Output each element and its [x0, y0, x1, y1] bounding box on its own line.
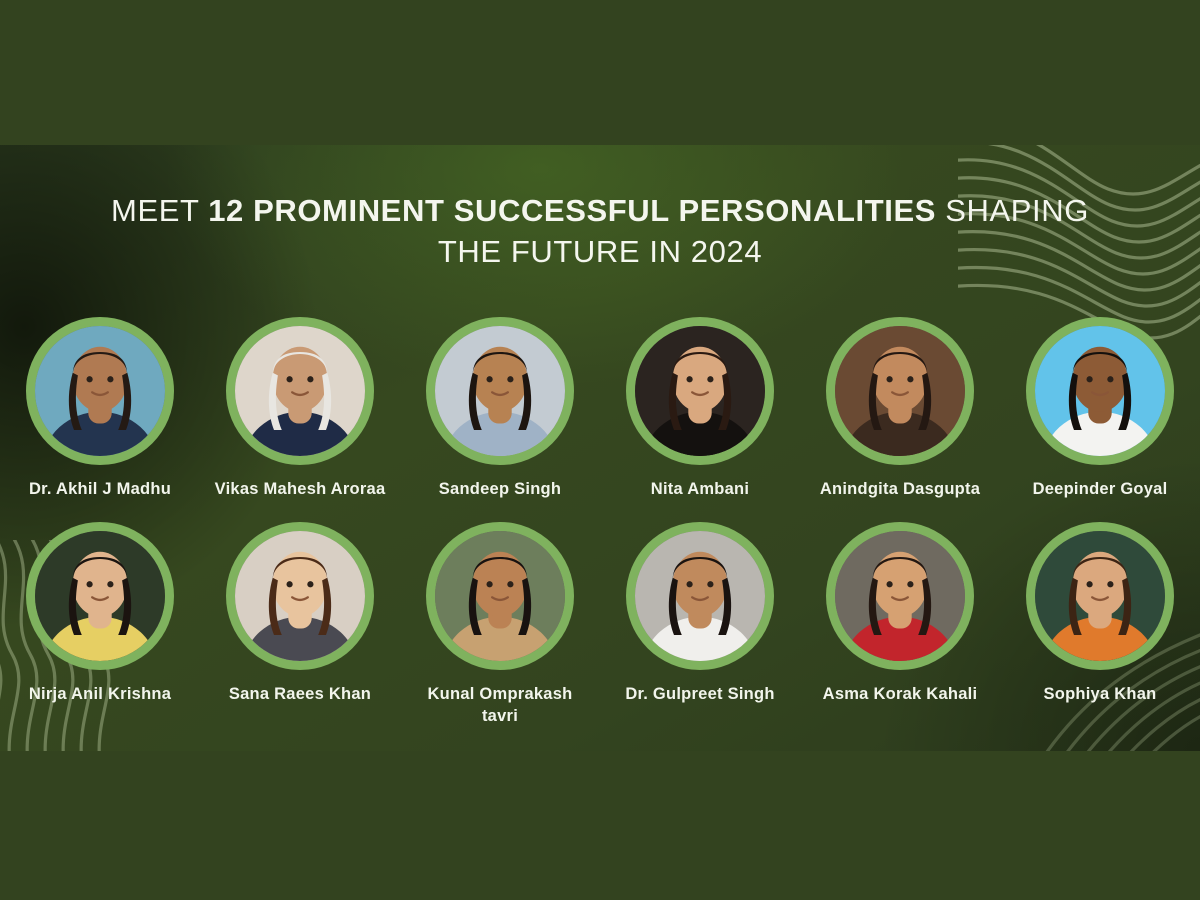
personality-name: Dr. Gulpreet Singh	[625, 684, 774, 705]
personality-card: Anindgita Dasgupta	[800, 317, 1000, 500]
personality-card: Asma Korak Kahali	[800, 522, 1000, 727]
headline-suffix: SHAPING	[936, 193, 1089, 228]
personality-card: Vikas Mahesh Aroraa	[200, 317, 400, 500]
personality-name: Nita Ambani	[651, 479, 749, 500]
avatar-ring	[1026, 317, 1174, 465]
avatar	[35, 326, 165, 456]
personality-name: Vikas Mahesh Aroraa	[215, 479, 386, 500]
avatar	[435, 531, 565, 661]
personality-card: Kunal Omprakash tavri	[400, 522, 600, 727]
headline-prefix: MEET	[111, 193, 208, 228]
avatar	[235, 531, 365, 661]
personalities-grid: Dr. Akhil J MadhuVikas Mahesh AroraaSand…	[0, 317, 1200, 727]
personality-card: Sophiya Khan	[1000, 522, 1200, 727]
avatar-ring	[826, 317, 974, 465]
personality-card: Dr. Akhil J Madhu	[0, 317, 200, 500]
banner-graphic: MEET 12 PROMINENT SUCCESSFUL PERSONALITI…	[0, 0, 1200, 900]
personality-name: Asma Korak Kahali	[823, 684, 978, 705]
avatar	[1035, 326, 1165, 456]
personality-card: Nirja Anil Krishna	[0, 522, 200, 727]
avatar-ring	[626, 522, 774, 670]
personality-name: Sana Raees Khan	[229, 684, 371, 705]
headline-line-1: MEET 12 PROMINENT SUCCESSFUL PERSONALITI…	[0, 191, 1200, 232]
avatar-ring	[26, 317, 174, 465]
avatar	[235, 326, 365, 456]
avatar	[835, 326, 965, 456]
avatar	[635, 326, 765, 456]
avatar-ring	[26, 522, 174, 670]
personality-name: Deepinder Goyal	[1033, 479, 1168, 500]
avatar-ring	[1026, 522, 1174, 670]
headline-line-2: THE FUTURE IN 2024	[0, 232, 1200, 273]
personality-card: Sandeep Singh	[400, 317, 600, 500]
avatar-ring	[426, 317, 574, 465]
personality-name: Dr. Akhil J Madhu	[29, 479, 171, 500]
avatar	[635, 531, 765, 661]
personality-card: Nita Ambani	[600, 317, 800, 500]
personality-name: Nirja Anil Krishna	[29, 684, 171, 705]
avatar-ring	[226, 522, 374, 670]
personality-name: Anindgita Dasgupta	[820, 479, 980, 500]
headline-emphasis: 12 PROMINENT SUCCESSFUL PERSONALITIES	[208, 193, 936, 228]
avatar-ring	[626, 317, 774, 465]
avatar	[435, 326, 565, 456]
avatar-ring	[826, 522, 974, 670]
avatar	[1035, 531, 1165, 661]
avatar	[835, 531, 965, 661]
letterbox-bar-bottom	[0, 751, 1200, 900]
personality-card: Deepinder Goyal	[1000, 317, 1200, 500]
avatar-ring	[226, 317, 374, 465]
letterbox-bar-top	[0, 0, 1200, 145]
page-title: MEET 12 PROMINENT SUCCESSFUL PERSONALITI…	[0, 191, 1200, 273]
avatar-ring	[426, 522, 574, 670]
personality-card: Dr. Gulpreet Singh	[600, 522, 800, 727]
personality-name: Sandeep Singh	[439, 479, 561, 500]
avatar	[35, 531, 165, 661]
personality-name: Sophiya Khan	[1043, 684, 1156, 705]
personality-name: Kunal Omprakash tavri	[413, 684, 588, 727]
main-banner: MEET 12 PROMINENT SUCCESSFUL PERSONALITI…	[0, 145, 1200, 751]
personality-card: Sana Raees Khan	[200, 522, 400, 727]
